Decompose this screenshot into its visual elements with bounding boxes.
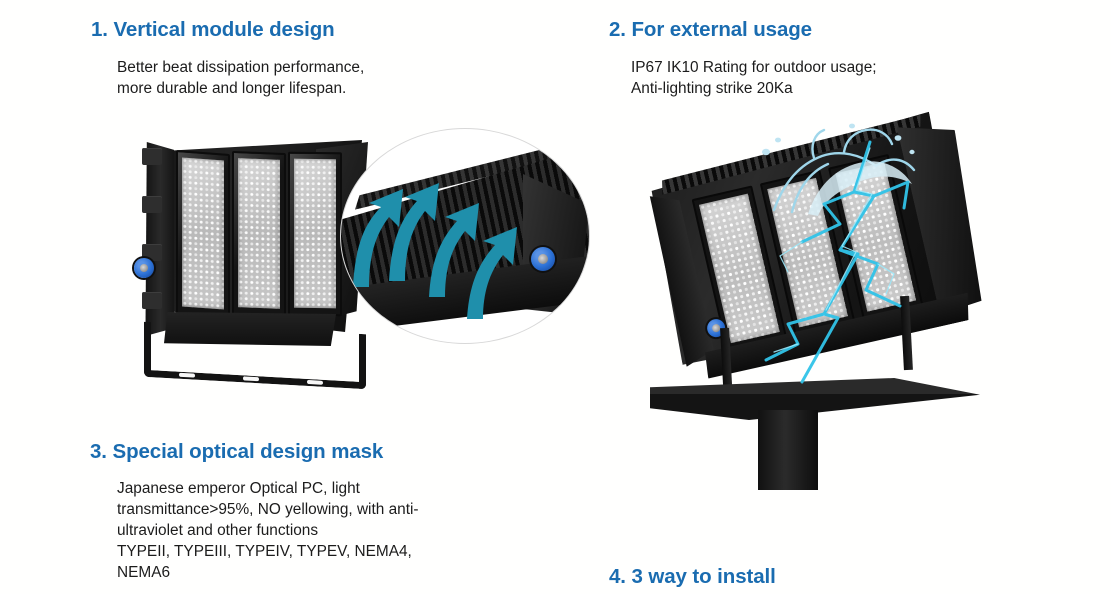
section-body-2: IP67 IK10 Rating for outdoor usage; Anti… <box>631 57 971 99</box>
luminaire-head <box>639 109 981 391</box>
flood-light-front-view <box>120 122 360 372</box>
led-lens-grid <box>238 158 280 309</box>
product-feature-page: 1. Vertical module design Better beat di… <box>0 0 1111 594</box>
flood-light-tilted-view <box>640 128 990 418</box>
bracket-slot <box>179 373 195 378</box>
bracket-lug <box>142 292 162 309</box>
led-lens-module <box>288 152 342 317</box>
u-mounting-bracket <box>144 322 366 389</box>
led-lens-module <box>176 150 230 318</box>
figure-vertical-module-design <box>100 112 600 372</box>
section-heading-4: 4. 3 way to install <box>609 565 776 589</box>
section-heading-2: 2. For external usage <box>609 18 812 42</box>
blue-cable-gland <box>134 258 154 278</box>
section-body-1: Better beat dissipation performance, mor… <box>117 57 447 99</box>
section-body-3: Japanese emperor Optical PC, light trans… <box>117 478 487 583</box>
bracket-slot <box>243 376 259 381</box>
magnifier-callout-circle <box>340 128 590 344</box>
bracket-lug <box>142 196 162 213</box>
led-lens-module <box>232 151 286 317</box>
figure-for-external-usage <box>600 108 1020 468</box>
bracket-slot <box>307 380 323 385</box>
section-heading-3: 3. Special optical design mask <box>90 440 383 464</box>
mounting-pole <box>758 410 818 490</box>
bracket-lug <box>142 148 162 165</box>
heat-airflow-arrow <box>463 225 537 321</box>
section-heading-1: 1. Vertical module design <box>91 18 335 42</box>
led-lens-grid <box>182 157 224 309</box>
led-lens-grid <box>294 159 336 308</box>
